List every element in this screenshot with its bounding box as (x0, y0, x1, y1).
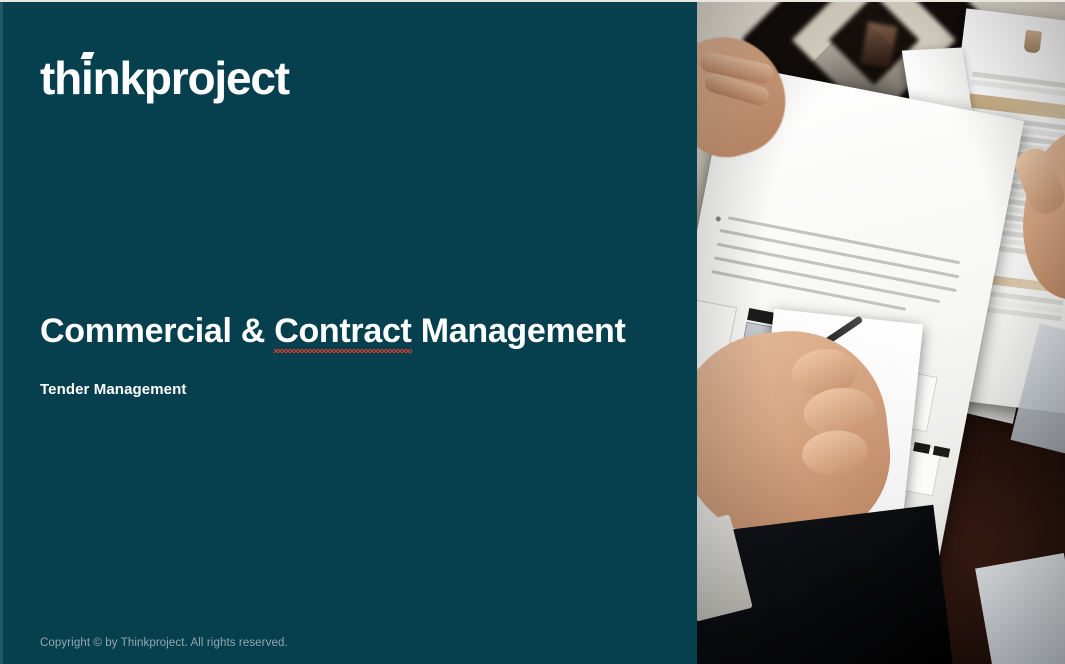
logo-text-part-1: th (40, 52, 81, 104)
thinkproject-logo: thinkproject (40, 55, 289, 101)
photo-sheet-bottom-right (975, 553, 1065, 664)
page-title-suffix: Management (412, 312, 626, 350)
photo-bullet-dot (715, 216, 721, 222)
copyright-notice: Copyright © by Thinkproject. All rights … (40, 637, 288, 649)
logo-text-part-2: i (81, 55, 93, 101)
logo-text-part-3: nkproject (93, 52, 289, 104)
page-title-misspelled-word: Contract (274, 312, 411, 350)
page-subtitle: Tender Management (40, 381, 186, 398)
content-panel: thinkproject Commercial & Contract Manag… (0, 0, 697, 664)
slide-left-border (0, 0, 3, 664)
page-title-prefix: Commercial & (40, 312, 274, 350)
page-title: Commercial & Contract Management (40, 312, 626, 350)
cover-photo (694, 0, 1065, 664)
title-slide: thinkproject Commercial & Contract Manag… (0, 0, 1065, 664)
slide-top-border (0, 0, 1065, 2)
photo-document-crest (1023, 30, 1042, 54)
